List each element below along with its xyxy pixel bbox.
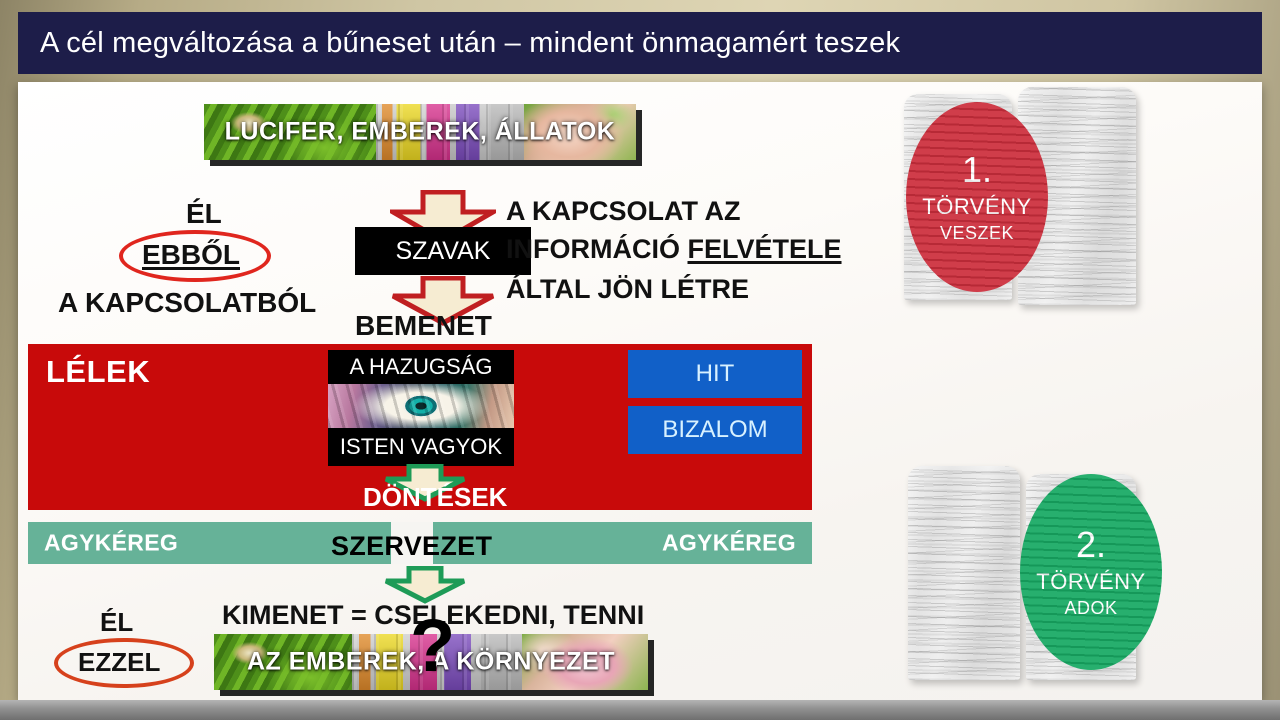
law-badge-1-line1: TÖRVÉNY: [922, 196, 1031, 218]
organism-label: SZERVEZET: [331, 531, 492, 562]
soul-panel-label: LÉLEK: [46, 354, 150, 390]
top-banner-label: LUCIFER, EMBEREK, ÁLLATOK: [204, 118, 636, 147]
right-top-line2-part1: INFORMÁCIÓ: [506, 234, 688, 264]
slide-canvas: LUCIFER, EMBEREK, ÁLLATOK ÉL EBBŐL A KAP…: [18, 82, 1262, 700]
stone-tablet-2a: [908, 466, 1020, 680]
words-box: SZAVAK: [355, 227, 531, 275]
question-mark: ?: [410, 609, 455, 683]
trust-box-label: BIZALOM: [662, 416, 767, 444]
right-top-line2: INFORMÁCIÓ FELVÉTELE: [506, 234, 842, 265]
trust-box[interactable]: BIZALOM: [628, 406, 802, 454]
words-box-label: SZAVAK: [396, 237, 491, 266]
left-top-line2: EBBŐL: [142, 239, 240, 271]
decisions-label: DÖNTÉSEK: [363, 482, 507, 513]
bottom-left-line2: EZZEL: [78, 647, 160, 678]
i-am-god-box-label: ISTEN VAGYOK: [340, 434, 502, 460]
law-badge-2-line1: TÖRVÉNY: [1036, 571, 1145, 593]
slide-title-bar: A cél megváltozása a bűneset után – mind…: [18, 12, 1262, 74]
lie-box: A HAZUGSÁG: [328, 350, 514, 384]
law-badge-1-line2: VESZEK: [940, 224, 1014, 242]
bottom-left-line1: ÉL: [100, 607, 133, 638]
cortex-label-left: AGYKÉREG: [44, 530, 178, 557]
window-bottom-strip: [0, 700, 1280, 720]
eye-photo: [328, 384, 514, 428]
law-badge-2-line2: ADOK: [1064, 599, 1117, 617]
cortex-label-right: AGYKÉREG: [662, 530, 796, 557]
right-top-line1: A KAPCSOLAT AZ: [506, 196, 740, 227]
law-badge-1: 1. TÖRVÉNY VESZEK: [906, 102, 1048, 292]
law-badge-2-number: 2.: [1076, 527, 1106, 563]
law-badge-1-number: 1.: [962, 152, 992, 188]
i-am-god-box: ISTEN VAGYOK: [328, 428, 514, 466]
faith-box-label: HIT: [696, 360, 735, 388]
law-badge-2: 2. TÖRVÉNY ADOK: [1020, 474, 1162, 670]
faith-box[interactable]: HIT: [628, 350, 802, 398]
top-picture-banner: LUCIFER, EMBEREK, ÁLLATOK: [204, 104, 636, 160]
down-arrow-green-to-output: [383, 566, 467, 604]
right-top-line3: ÁLTAL JÖN LÉTRE: [506, 274, 749, 305]
right-top-line2-underlined: FELVÉTELE: [688, 234, 842, 264]
lie-box-label: A HAZUGSÁG: [349, 354, 492, 380]
page-title: A cél megváltozása a bűneset után – mind…: [18, 27, 900, 60]
left-top-line1: ÉL: [186, 198, 222, 230]
left-top-line3: A KAPCSOLATBÓL: [58, 287, 316, 319]
input-label: BEMENET: [355, 310, 492, 342]
